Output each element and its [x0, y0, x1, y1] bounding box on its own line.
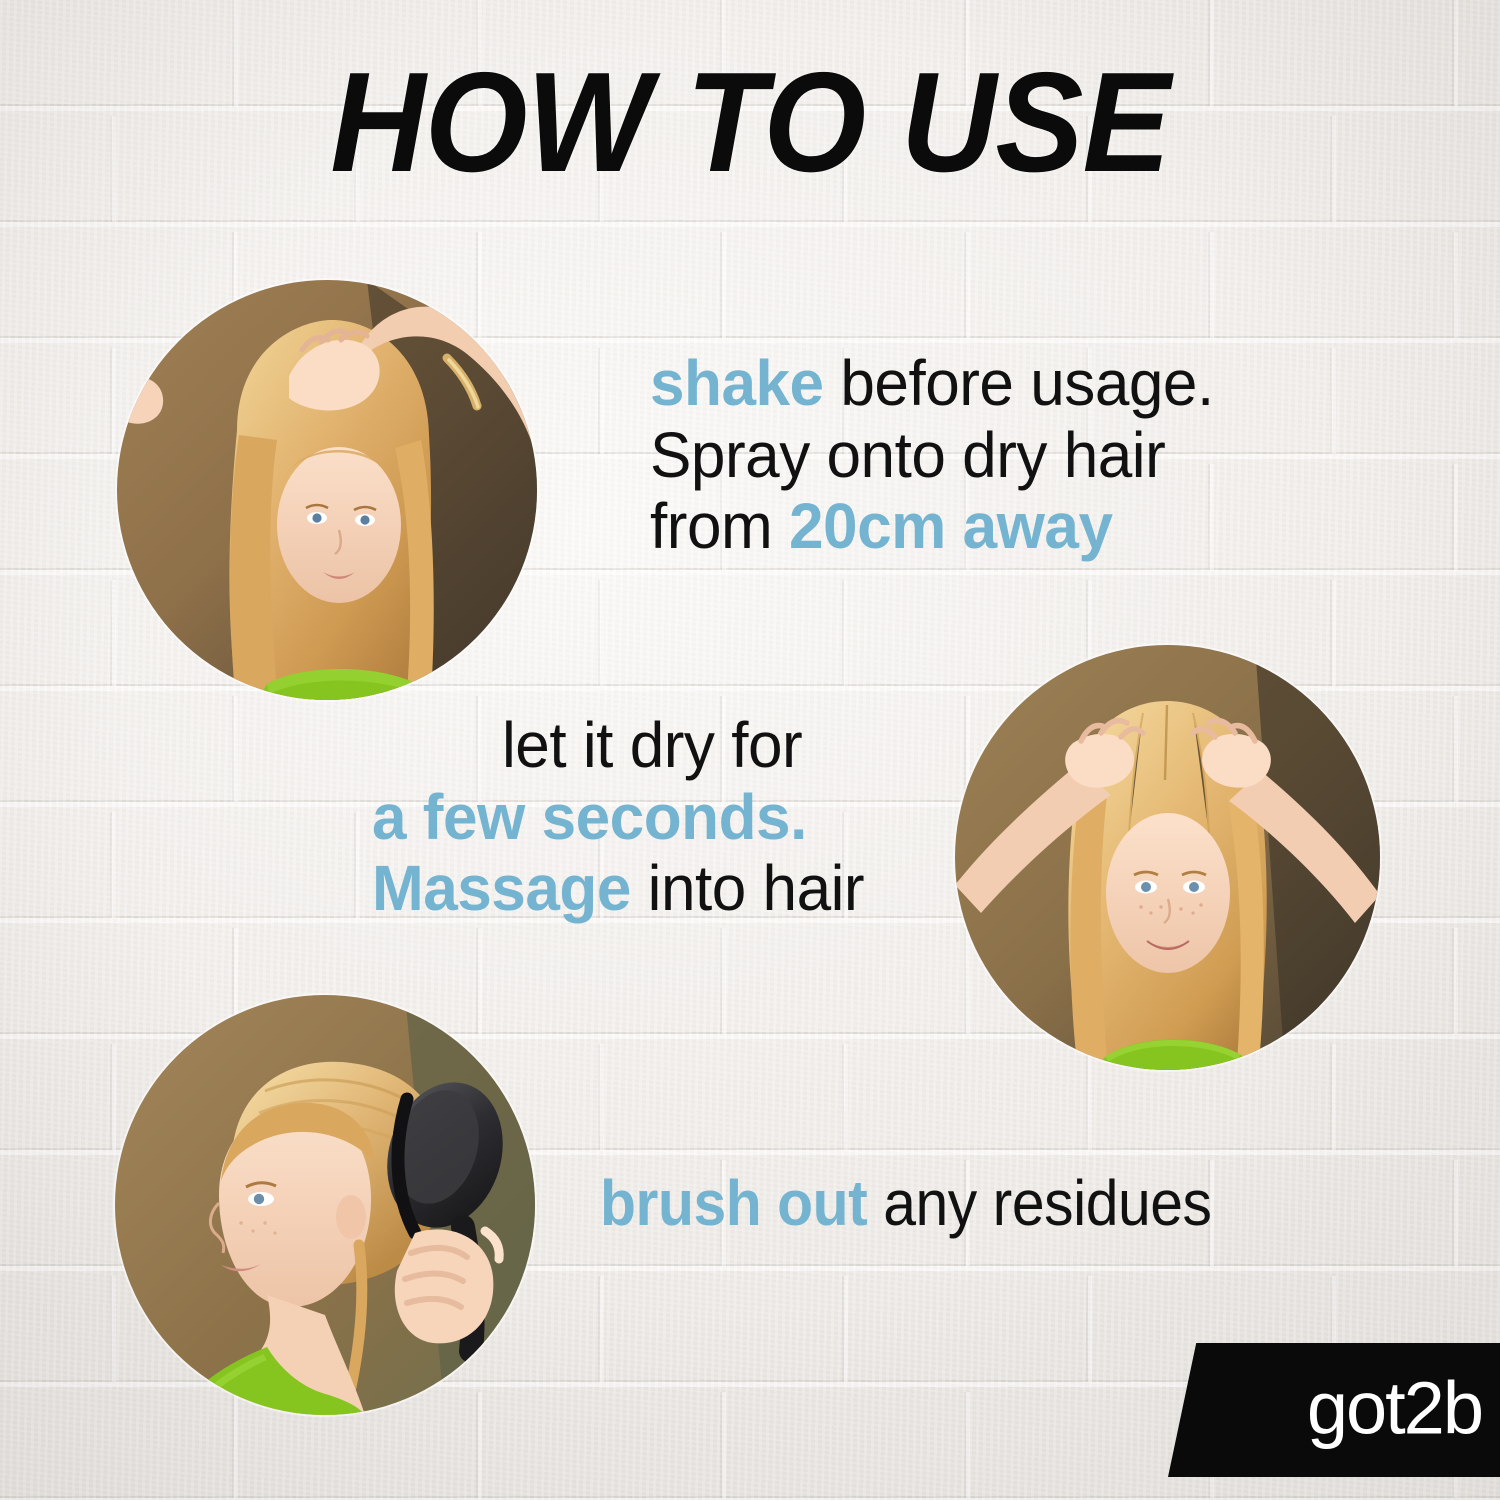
step-1-plain-3: from: [650, 490, 789, 562]
step-1-accent-shake: shake: [650, 347, 824, 419]
step-1-accent-distance: 20cm away: [789, 490, 1113, 562]
woman-lifting-hair-photo: [117, 280, 537, 700]
step-1-instruction: shake before usage. Spray onto dry hair …: [650, 348, 1231, 563]
woman-massaging-scalp-photo: [955, 645, 1380, 1070]
step-2-line-2: a few seconds.: [372, 782, 864, 854]
how-to-use-poster: HOW TO USE: [0, 0, 1500, 1500]
step-3-accent-brush-out: brush out: [600, 1167, 867, 1239]
step-3-instruction: brush out any residues: [600, 1168, 1212, 1240]
step-2-line-3: Massage into hair: [372, 853, 864, 925]
step-1-plain-1: before usage.: [824, 347, 1214, 419]
step-2-instruction: let it dry for a few seconds. Massage in…: [372, 710, 879, 925]
woman-brushing-hair-photo: [115, 995, 535, 1415]
step-1-line-1: shake before usage.: [650, 348, 1214, 420]
step-3-plain-1: any residues: [867, 1167, 1211, 1239]
step-1-plain-2: Spray onto dry hair: [650, 419, 1165, 491]
step-1-line-2: Spray onto dry hair: [650, 420, 1214, 492]
logo-wordmark: got2b: [1168, 1372, 1482, 1446]
photo-3-illustration: [115, 995, 535, 1415]
step-2-accent-seconds: a few seconds.: [372, 781, 807, 853]
step-1-line-3: from 20cm away: [650, 491, 1214, 563]
step-2-plain-1: let it dry for: [502, 709, 802, 781]
photo-1-illustration: [117, 280, 537, 700]
photo-2-illustration: [955, 645, 1380, 1070]
step-2-line-1: let it dry for: [502, 710, 868, 782]
step-2-plain-2: into hair: [631, 852, 864, 924]
page-title: HOW TO USE: [53, 52, 1448, 194]
step-2-accent-massage: Massage: [372, 852, 631, 924]
got2b-logo: got2b: [1168, 1343, 1500, 1477]
